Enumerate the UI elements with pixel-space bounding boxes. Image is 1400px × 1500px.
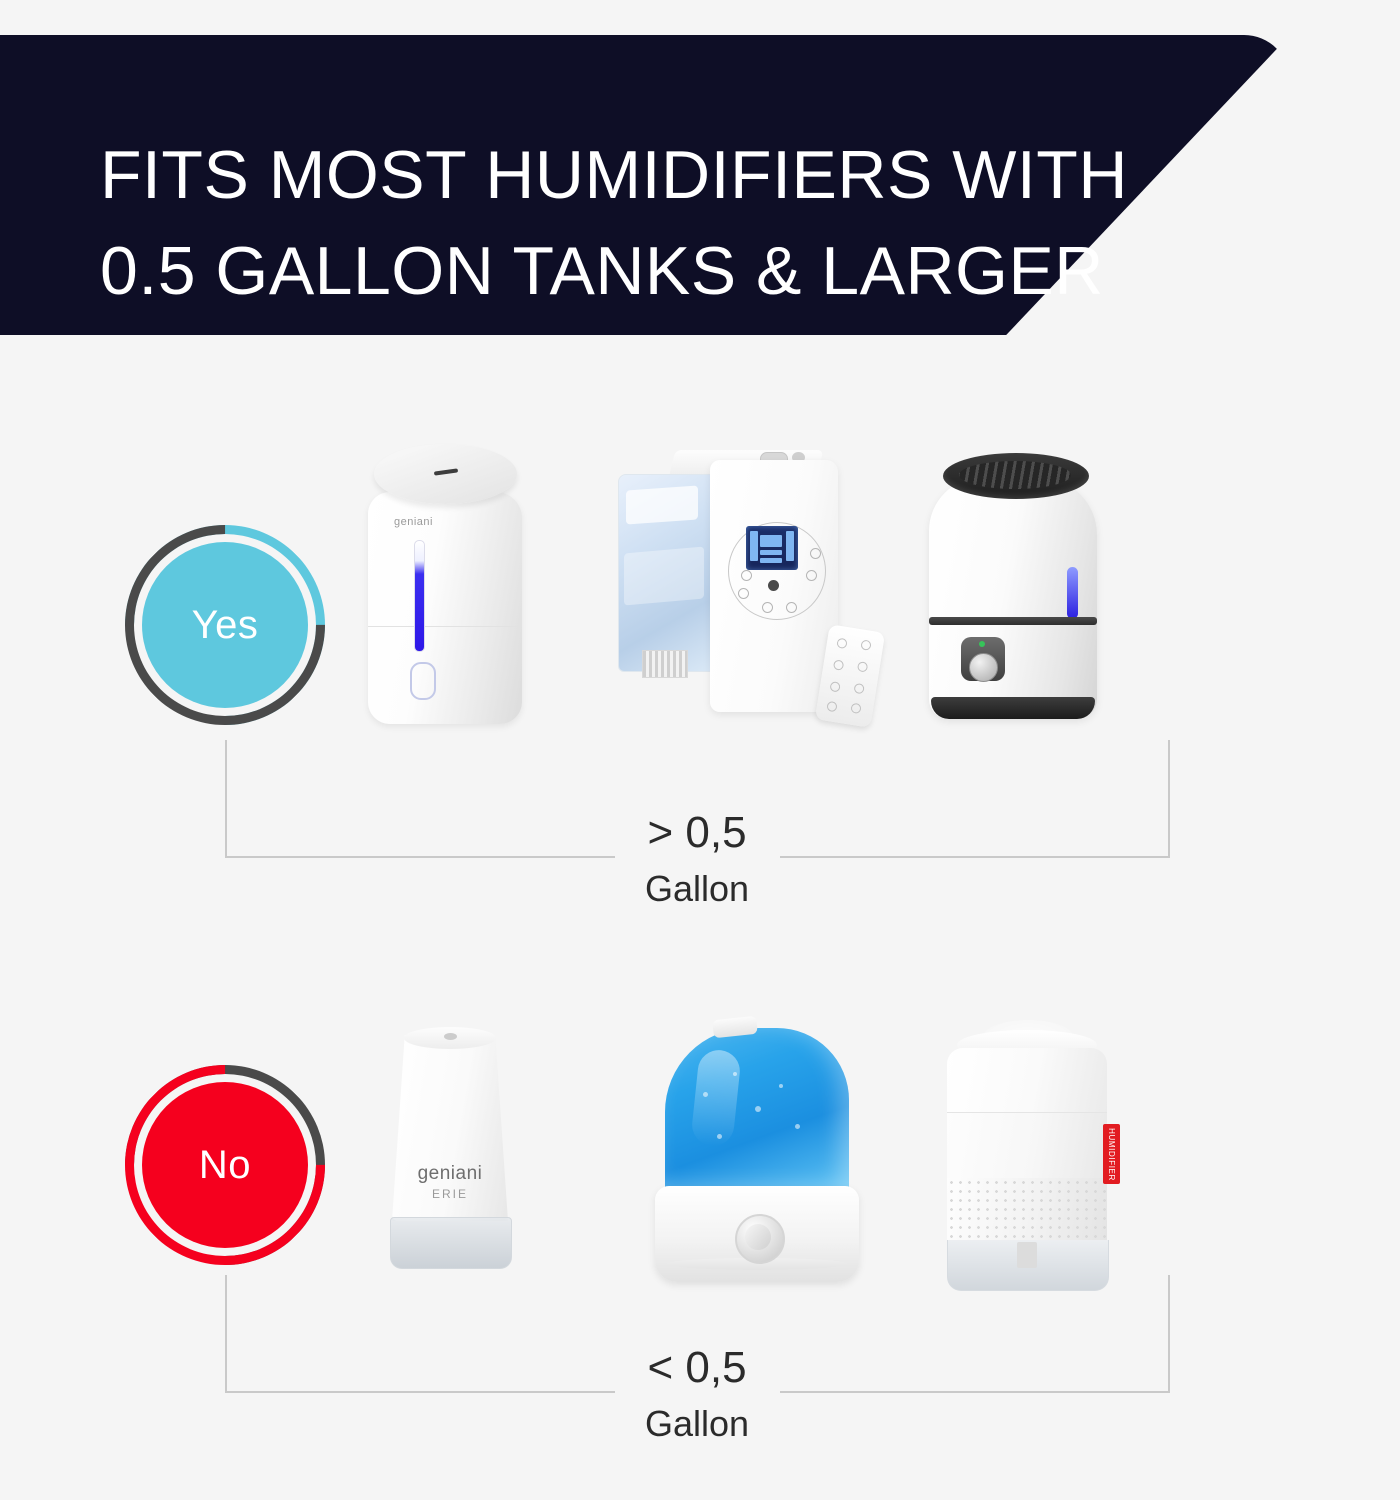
bracket-unit-no: Gallon <box>472 1399 922 1449</box>
bracket-tick-left <box>225 1275 227 1393</box>
transparent-base <box>390 1217 512 1269</box>
perforated-band <box>947 1178 1107 1240</box>
sensor-dot <box>768 580 779 591</box>
bracket-tick-right <box>1168 1275 1170 1393</box>
bracket-tick-right <box>1168 740 1170 858</box>
power-button-icon <box>410 662 436 700</box>
humidity-button-icon <box>738 588 749 599</box>
product-seam <box>947 1112 1107 1113</box>
bubble <box>795 1124 800 1129</box>
product-image-white-cylinder-humidifier: HUMIDIFIER <box>925 1000 1129 1292</box>
product-image-geniani-erie: geniani ERIE <box>368 995 532 1285</box>
page-title-line-1: FITS MOST HUMIDIFIERS WITH <box>100 127 1180 223</box>
product-tab-text: HUMIDIFIER <box>1107 1128 1116 1181</box>
bubble <box>703 1092 708 1097</box>
status-badge-yes: Yes <box>125 525 325 725</box>
product-brand-label: geniani <box>394 516 433 528</box>
control-knob <box>969 653 998 682</box>
mist-vent-louvres <box>959 461 1071 489</box>
product-image-large-white-humidifier <box>915 425 1115 735</box>
product-mid-shell <box>947 1112 1107 1178</box>
page-title-line-2: 0.5 GALLON TANKS & LARGER <box>100 223 1180 319</box>
tank-highlight <box>626 485 698 524</box>
bracket-label-no: < 0,5 Gallon <box>472 1343 922 1449</box>
lcd-display <box>746 526 798 570</box>
base-band <box>931 697 1095 719</box>
product-seam <box>368 626 522 627</box>
water-level-indicator <box>1067 567 1078 619</box>
header-banner: FITS MOST HUMIDIFIERS WITH 0.5 GALLON TA… <box>0 35 1290 335</box>
product-upper-shell <box>947 1048 1107 1112</box>
page-title: FITS MOST HUMIDIFIERS WITH 0.5 GALLON TA… <box>100 127 1180 319</box>
mist-nozzle <box>444 1033 457 1040</box>
bubble <box>733 1072 737 1076</box>
bracket-value-no: < 0,5 <box>647 1343 746 1392</box>
product-image-warm-cool-mist <box>610 430 890 730</box>
product-model-label: ERIE <box>368 1187 532 1201</box>
bubble <box>717 1134 722 1139</box>
product-image-blue-dome-humidifier <box>645 1000 869 1290</box>
control-knob-inner <box>745 1224 771 1250</box>
product-body <box>368 492 522 724</box>
product-image-geniani-tower: geniani <box>350 430 550 730</box>
bracket-unit-yes: Gallon <box>472 864 922 914</box>
badge-label-yes: Yes <box>142 542 308 708</box>
bubble <box>779 1084 783 1088</box>
warm-mist-button-icon <box>762 602 773 613</box>
cool-mist-button-icon <box>786 602 797 613</box>
badge-label-no: No <box>142 1082 308 1248</box>
water-level-indicator <box>414 540 425 652</box>
bracket-tick-left <box>225 740 227 858</box>
product-brand-label: geniani <box>368 1163 532 1185</box>
status-badge-no: No <box>125 1065 325 1265</box>
power-led-icon <box>979 641 985 647</box>
tank-highlight-lower <box>624 547 704 606</box>
bracket-label-yes: > 0,5 Gallon <box>472 808 922 914</box>
decor-band-upper <box>929 617 1097 625</box>
product-tab-label: HUMIDIFIER <box>1103 1124 1120 1184</box>
bubble <box>755 1106 761 1112</box>
wick-stem <box>1017 1242 1037 1268</box>
air-vent-grill <box>642 650 688 678</box>
bracket-value-yes: > 0,5 <box>647 808 746 857</box>
timer-button-icon <box>806 570 817 581</box>
power-button-icon <box>741 570 752 581</box>
mode-button-icon <box>810 548 821 559</box>
